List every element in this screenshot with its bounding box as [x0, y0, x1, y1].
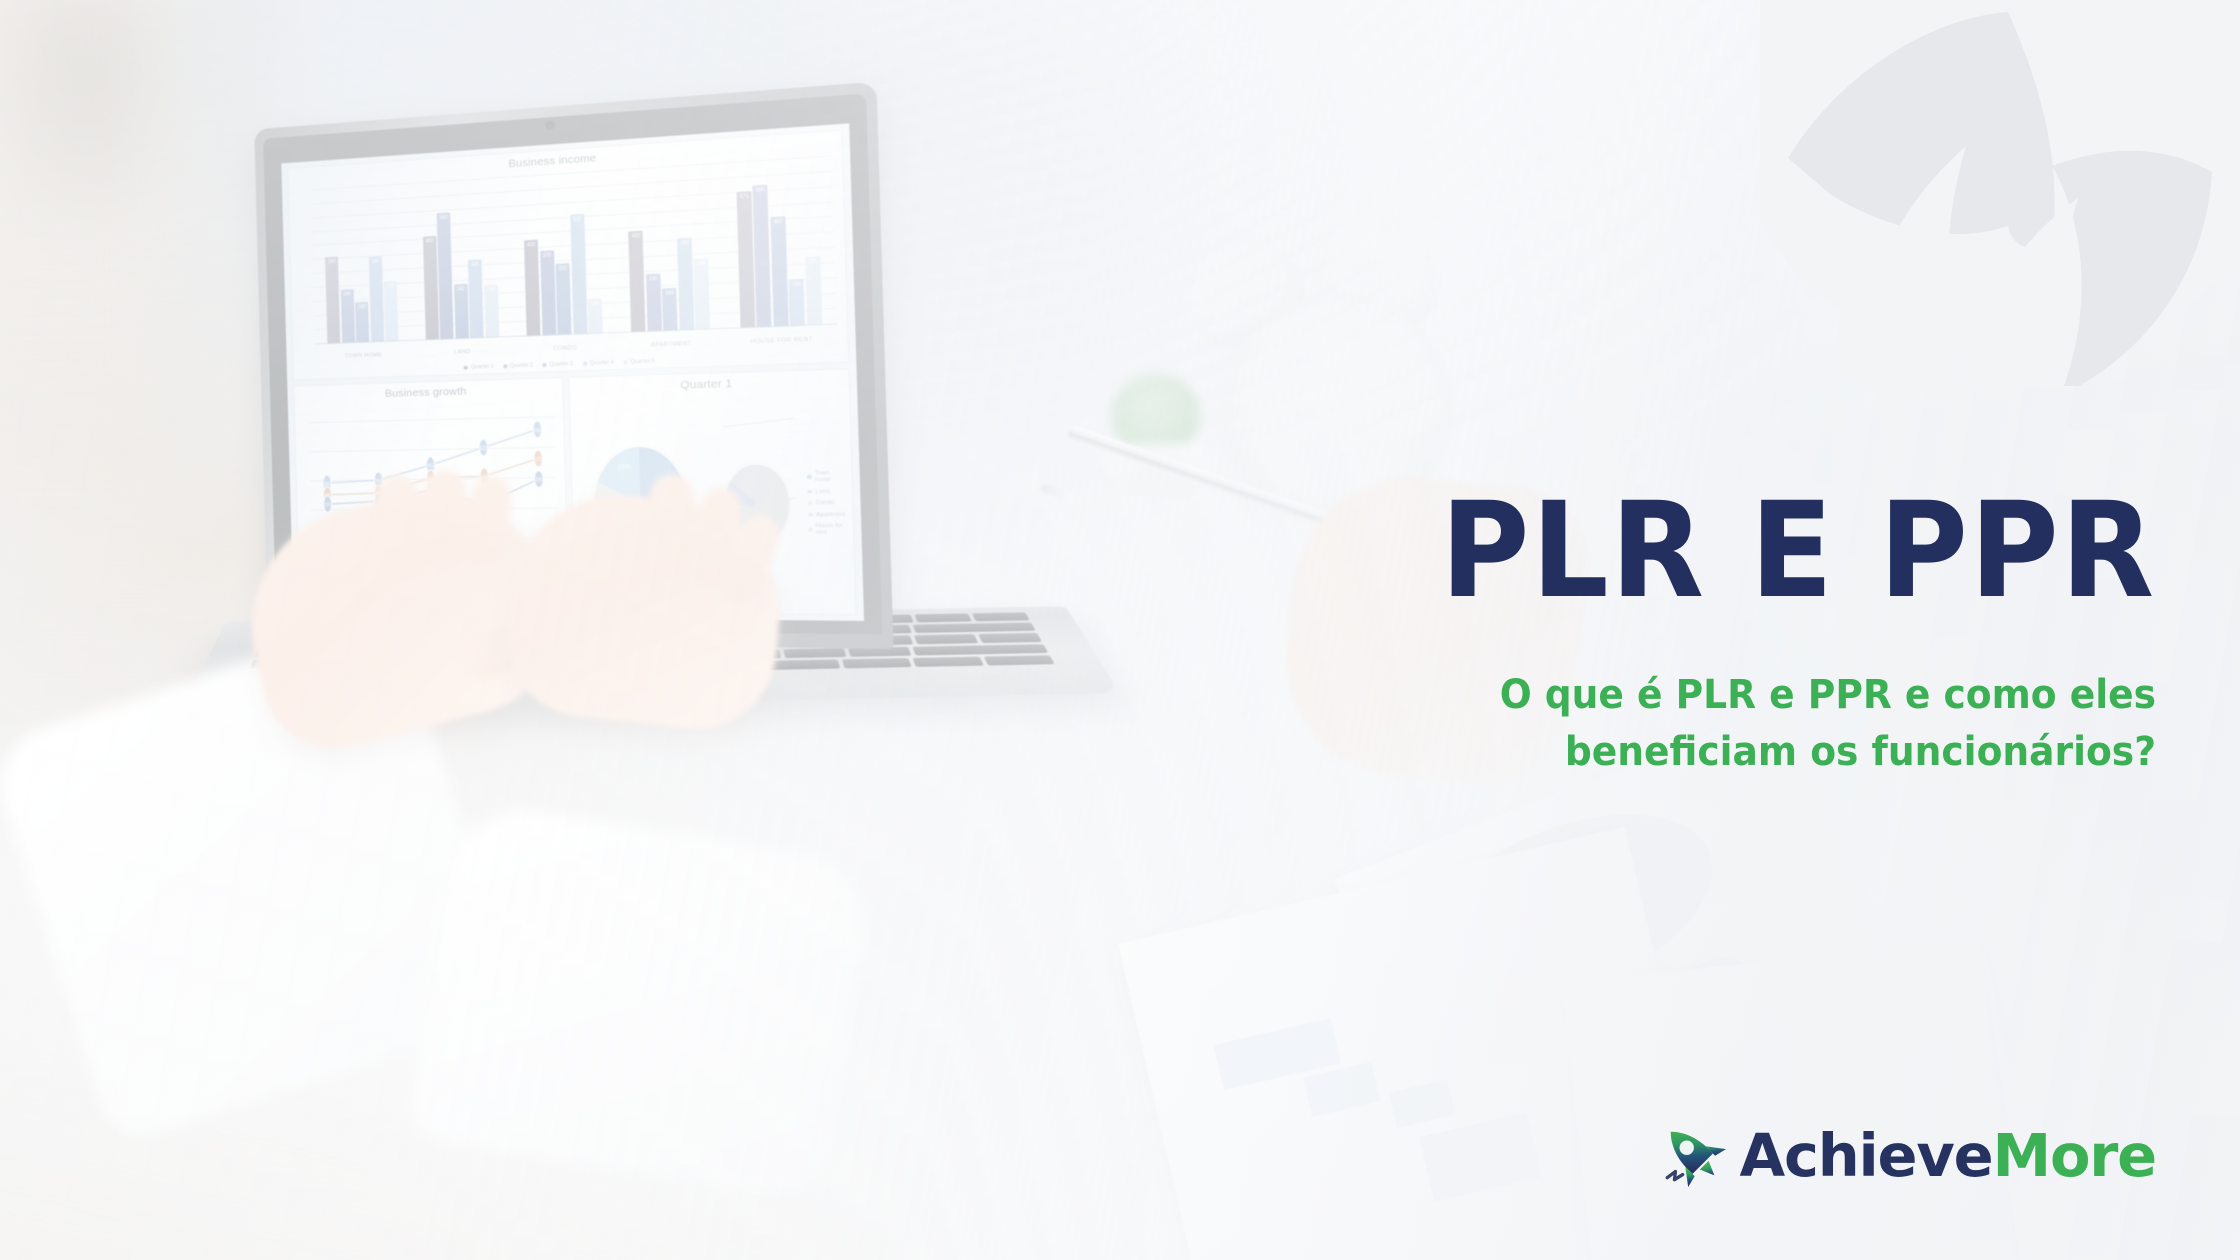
- logo-wordmark: AchieveMore: [1739, 1126, 2156, 1185]
- page-subtitle: O que é PLR e PPR e como eles beneficiam…: [1103, 667, 2156, 781]
- logo-word-more: More: [1992, 1121, 2156, 1190]
- m-letter-watermark: [1760, 0, 2240, 386]
- poster-canvas: Business income 390240180380270460560242…: [0, 0, 2240, 1260]
- page-subtitle-line-1: O que é PLR e PPR e como eles: [1103, 667, 2156, 724]
- rocket-icon: [1661, 1120, 1727, 1190]
- achievemore-logo[interactable]: AchieveMore: [1661, 1120, 2156, 1190]
- page-subtitle-line-2: beneficiam os funcionários?: [1103, 724, 2156, 781]
- logo-word-achieve: Achieve: [1739, 1121, 1992, 1190]
- hero-copy: PLR E PPR O que é PLR e PPR e como eles …: [1036, 488, 2156, 780]
- page-title: PLR E PPR: [1126, 488, 2156, 615]
